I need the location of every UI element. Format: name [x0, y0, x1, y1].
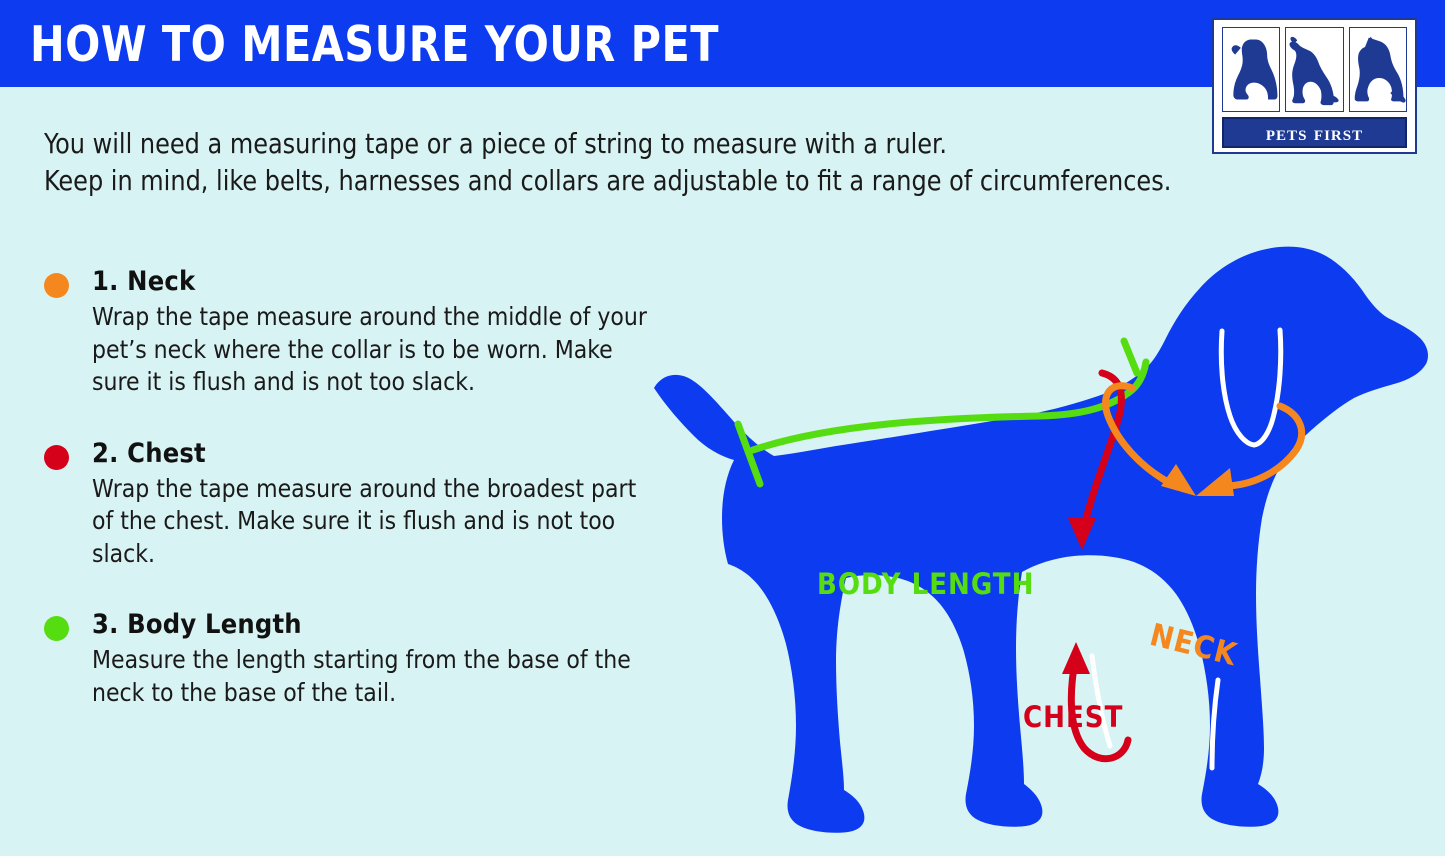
dog-diagram-svg: [640, 228, 1445, 856]
intro-text: You will need a measuring tape or a piec…: [44, 126, 1237, 200]
step-body: Measure the length starting from the bas…: [92, 644, 652, 709]
step-body: Wrap the tape measure around the broades…: [92, 473, 652, 571]
infographic-page: HOW TO MEASURE YOUR PET: [0, 0, 1445, 856]
label-body-length: BODY LENGTH: [817, 567, 1034, 601]
step-title: 1. Neck: [92, 265, 664, 299]
list-item: 2. Chest Wrap the tape measure around th…: [44, 437, 664, 571]
list-item: 3. Body Length Measure the length starti…: [44, 608, 664, 709]
logo-animal-row: [1222, 27, 1407, 112]
dog-silhouette-icon: [654, 247, 1428, 833]
page-title: HOW TO MEASURE YOUR PET: [30, 16, 719, 73]
logo-wordmark: PETS FIRST: [1222, 117, 1407, 148]
sitting-shepherd-silhouette-icon: [1349, 27, 1407, 112]
intro-line-1: You will need a measuring tape or a piec…: [44, 126, 1237, 163]
sitting-dog-silhouette-icon: [1222, 27, 1280, 112]
intro-line-2: Keep in mind, like belts, harnesses and …: [44, 163, 1237, 200]
step-bullet-chest: [44, 445, 69, 470]
measurement-steps-list: 1. Neck Wrap the tape measure around the…: [44, 265, 664, 747]
step-title: 3. Body Length: [92, 608, 664, 642]
brand-logo: PETS FIRST: [1212, 18, 1417, 154]
step-bullet-neck: [44, 273, 69, 298]
step-bullet-body-length: [44, 616, 69, 641]
label-chest: CHEST: [1023, 700, 1123, 734]
step-body: Wrap the tape measure around the middle …: [92, 301, 652, 399]
howling-dog-silhouette-icon: [1285, 27, 1343, 112]
list-item: 1. Neck Wrap the tape measure around the…: [44, 265, 664, 399]
step-title: 2. Chest: [92, 437, 664, 471]
dog-measurement-diagram: BODY LENGTH NECK CHEST: [640, 228, 1445, 856]
